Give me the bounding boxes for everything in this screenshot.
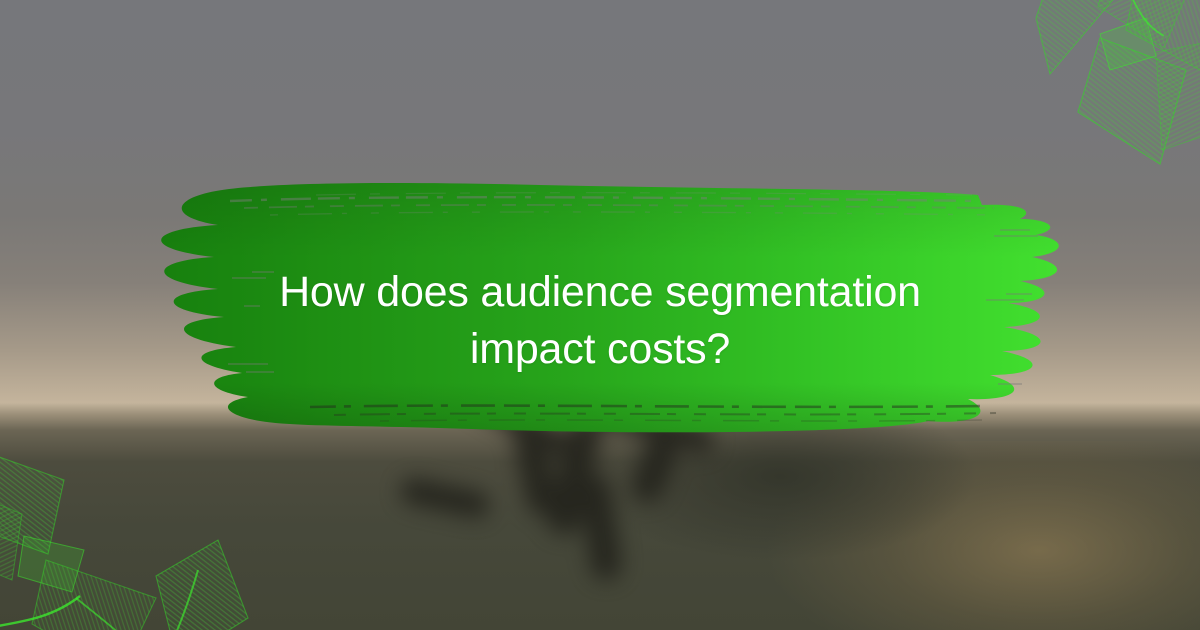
share-card: How does audience segmentation impact co… bbox=[0, 0, 1200, 630]
headline-text: How does audience segmentation impact co… bbox=[200, 264, 1000, 378]
